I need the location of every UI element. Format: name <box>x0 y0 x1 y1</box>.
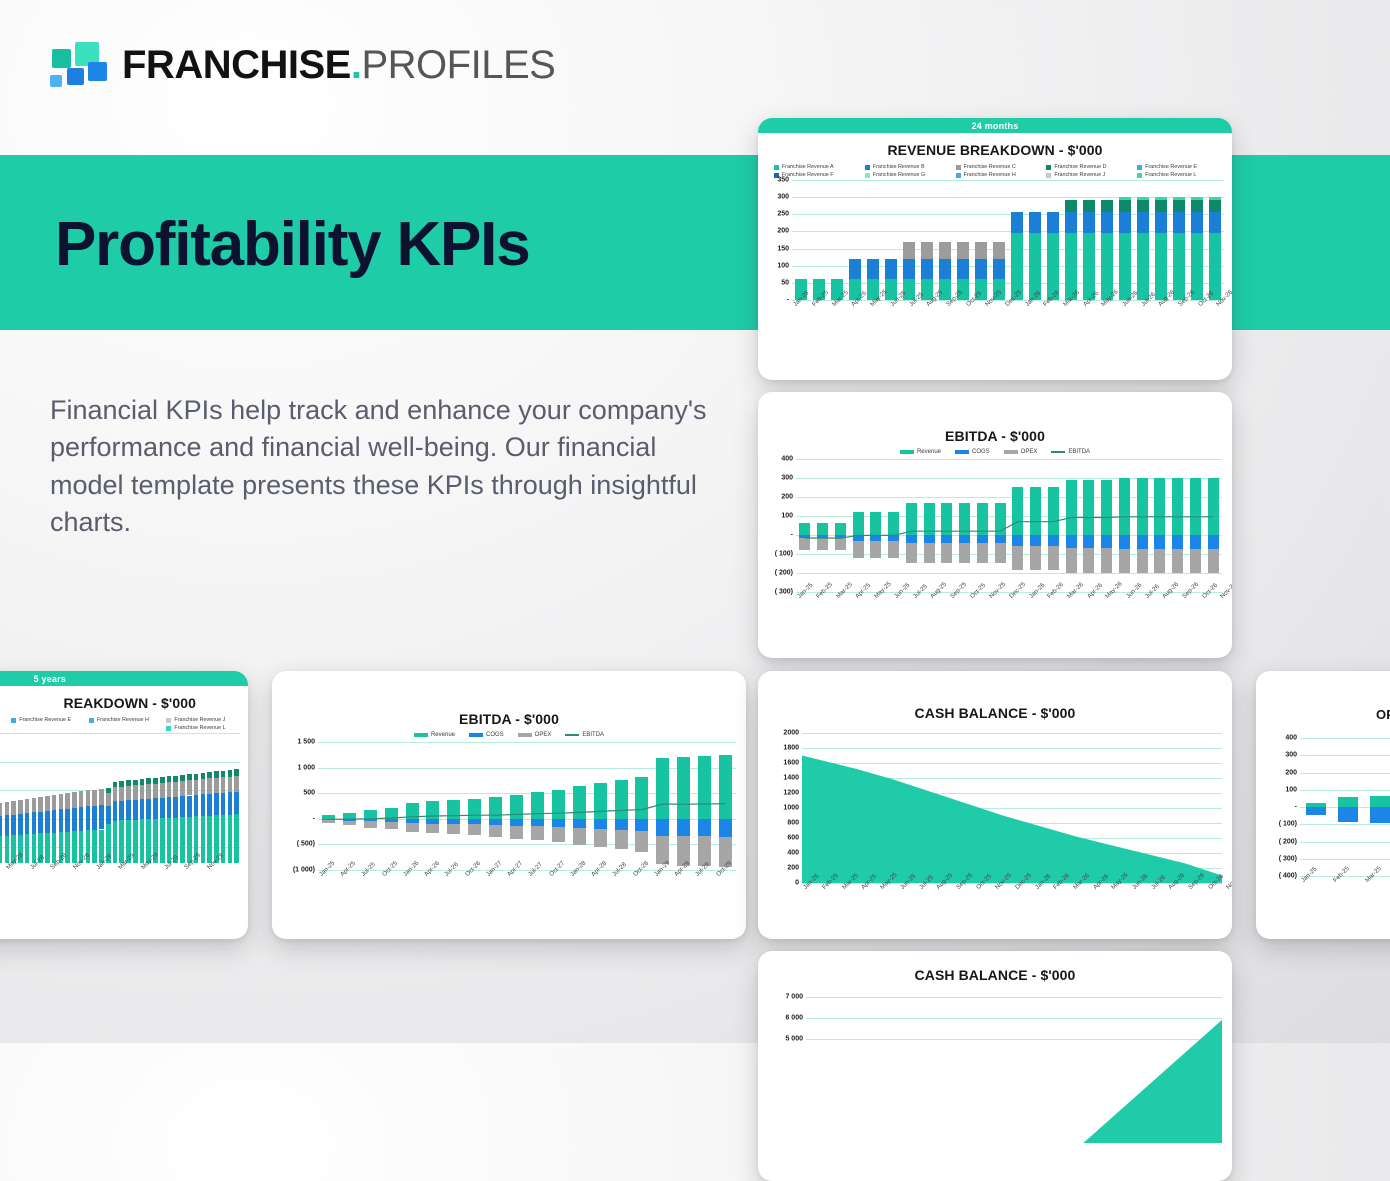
bar-segment <box>1065 212 1076 233</box>
brand-name-dot: . <box>351 43 362 87</box>
bar-segment <box>106 793 111 806</box>
legend-item: Franchise Revenue A <box>768 164 859 170</box>
bar-segment <box>126 780 131 786</box>
legend-swatch-icon <box>774 165 779 170</box>
chart-y-axis: 2000180016001400120010008006004002000 <box>762 733 802 883</box>
bar-segment <box>1155 200 1166 211</box>
bar-segment <box>1029 212 1040 233</box>
legend-item: Franchise Revenue E <box>1131 164 1222 170</box>
bar-segment <box>119 781 124 787</box>
bar-segment <box>1338 807 1358 822</box>
legend-swatch-icon <box>900 450 914 454</box>
bar-segment <box>228 792 233 814</box>
bar-segment <box>79 807 84 831</box>
bar-segment <box>25 834 30 863</box>
bar-segment <box>146 799 151 819</box>
bar-segment <box>92 830 97 863</box>
bar-segment <box>993 259 1004 279</box>
bar-segment <box>113 782 118 788</box>
bar-segment <box>957 259 968 279</box>
chart-y-axis: 7 0006 0005 000 <box>762 997 806 1143</box>
legend-item: Revenue <box>414 732 455 738</box>
bar-segment <box>194 795 199 816</box>
bar-segment <box>25 813 30 834</box>
ebitda-line <box>318 742 736 870</box>
legend-swatch-icon <box>166 718 171 723</box>
bar-segment <box>160 818 165 863</box>
bar-segment <box>99 805 104 830</box>
legend-swatch-icon <box>565 734 579 736</box>
period-tag-24-months: 24 months <box>758 118 1232 133</box>
bar-segment <box>59 809 64 832</box>
legend-label: EBITDA <box>1068 449 1090 455</box>
bar-segment <box>106 788 111 793</box>
bar-segment <box>0 836 2 863</box>
y-tick-label: 1600 <box>783 760 799 767</box>
bar-segment <box>140 785 145 799</box>
bar-segment <box>45 811 50 833</box>
bar-segment <box>59 794 64 809</box>
bar-segment <box>160 798 165 819</box>
page-title: Profitability KPIs <box>55 214 530 276</box>
legend-swatch-icon <box>469 733 483 737</box>
bar-segment <box>146 778 151 784</box>
y-tick-label: 200 <box>781 494 793 501</box>
y-tick-label: ( 500) <box>297 841 315 848</box>
bar-segment <box>113 801 118 821</box>
legend-label: Revenue <box>917 449 941 455</box>
bar-segment <box>1191 212 1202 233</box>
bar-segment <box>140 819 145 863</box>
bar-segment <box>1155 212 1166 233</box>
y-tick-label: 1000 <box>783 805 799 812</box>
legend-item: OPEX <box>518 732 552 738</box>
legend-label: Franchise Revenue D <box>1054 164 1106 170</box>
legend-label: Franchise Revenue H <box>964 172 1016 178</box>
bar-segment <box>99 789 104 805</box>
bar-segment <box>1191 200 1202 211</box>
legend-swatch-icon <box>1137 173 1142 178</box>
legend-swatch-icon <box>89 718 94 723</box>
bar-segment <box>867 259 878 279</box>
legend-swatch-icon <box>955 450 969 454</box>
chart-title-ebitda-5y: EBITDA - $'000 <box>272 711 746 727</box>
bar-segment <box>5 815 10 835</box>
bar-segment <box>228 815 233 863</box>
bar-segment <box>1137 197 1148 200</box>
bar-segment <box>221 771 226 777</box>
cash-area <box>806 997 1222 1143</box>
bar-segment <box>119 820 124 863</box>
bar-segment <box>1370 796 1390 807</box>
bar-segment <box>1101 200 1112 211</box>
legend-label: OPEX <box>535 732 552 738</box>
brand-wordmark: FRANCHISE.PROFILES <box>122 45 555 85</box>
bar-segment <box>5 802 10 815</box>
bar-segment <box>173 782 178 797</box>
bar-segment <box>1370 807 1390 823</box>
y-tick-label: 300 <box>1285 752 1297 759</box>
bar-segment <box>167 776 172 782</box>
y-tick-label: 100 <box>1285 786 1297 793</box>
bar-segment <box>52 795 57 810</box>
legend-swatch-icon <box>956 173 961 178</box>
legend-swatch-icon <box>414 733 428 737</box>
cash-area <box>802 733 1222 883</box>
bar-segment <box>1306 807 1326 815</box>
bar-segment <box>1137 233 1148 300</box>
bar-segment <box>214 778 219 794</box>
legend-label: Franchise Revenue J <box>174 717 225 723</box>
bar-segment <box>86 806 91 830</box>
y-tick-label: 5 000 <box>785 1035 803 1042</box>
bar-segment <box>160 777 165 783</box>
bar-segment <box>11 815 16 835</box>
card-revenue-breakdown-24m[interactable]: 24 months REVENUE BREAKDOWN - $'000 Fran… <box>758 118 1232 380</box>
legend-item: Franchise Revenue G <box>859 172 950 178</box>
bar-segment <box>1083 212 1094 233</box>
bar-segment <box>187 817 192 863</box>
bar-segment <box>45 796 50 811</box>
legend-label: COGS <box>972 449 990 455</box>
chart-x-axis: Jan-25Feb-25Mar-25Apr-25May-25Jun-25Jul-… <box>1300 879 1390 886</box>
bar-segment <box>957 242 968 259</box>
y-tick-label: ( 100) <box>775 551 793 558</box>
card-ebitda-5y[interactable]: EBITDA - $'000 RevenueCOGSOPEXEBITDA 1 5… <box>272 671 746 939</box>
slide-root: FRANCHISE.PROFILES Profitability KPIs Fi… <box>0 0 1390 1043</box>
bar-segment <box>975 259 986 279</box>
bar-segment <box>79 791 84 807</box>
bar-segment <box>167 818 172 863</box>
y-tick-label: 1 000 <box>297 764 315 771</box>
bar-segment <box>207 794 212 816</box>
bar-segment <box>921 259 932 279</box>
bar-segment <box>52 810 57 832</box>
bar-segment <box>65 809 70 832</box>
legend-swatch-icon <box>1004 450 1018 454</box>
legend-label: Franchise Revenue J <box>1054 172 1105 178</box>
bar-segment <box>133 800 138 820</box>
legend-label: Franchise Revenue F <box>782 172 834 178</box>
bar-segment <box>207 778 212 793</box>
legend-swatch-icon <box>1046 165 1051 170</box>
legend-swatch-icon <box>1046 173 1051 178</box>
bar-segment <box>221 793 226 815</box>
bar-segment <box>1137 200 1148 211</box>
chart-bars <box>0 733 240 863</box>
bar-segment <box>903 259 914 279</box>
brand-name-light: PROFILES <box>361 43 555 87</box>
bar-segment <box>146 784 151 798</box>
bar-segment <box>126 800 131 820</box>
chart-x-axis: Jan-25Feb-25Mar-25Apr-25May-25Jun-25Jul-… <box>802 886 1222 893</box>
bar-segment <box>187 796 192 817</box>
bar-segment <box>1101 233 1112 300</box>
bar-segment <box>1119 233 1130 300</box>
legend-label: Revenue <box>431 732 455 738</box>
chart-y-axis: 1 5001 000500-( 500)(1 000) <box>276 742 318 870</box>
bar-segment <box>160 783 165 798</box>
bar-segment <box>885 259 896 279</box>
bar-segment <box>1137 212 1148 233</box>
bar-segment <box>180 796 185 817</box>
legend-item: COGS <box>955 449 990 455</box>
legend-item: Franchise Revenue C <box>950 164 1041 170</box>
y-tick-label: 200 <box>787 865 799 872</box>
bar-segment <box>106 806 111 824</box>
bar-segment <box>1119 200 1130 211</box>
chart-legend-ebitda-5y: RevenueCOGSOPEXEBITDA <box>272 732 746 738</box>
chart-x-axis: Jan-25Feb-25Mar-25Apr-25May-25Jun-25Jul-… <box>796 595 1222 602</box>
chart-title-cash-24m: CASH BALANCE - $'000 <box>758 705 1232 721</box>
bar-segment <box>119 801 124 821</box>
bar-segment <box>92 806 97 830</box>
chart-x-axis: Jan-25Apr-25Jul-25Oct-25Jan-26Apr-26Jul-… <box>318 873 736 880</box>
bar-segment <box>1209 197 1220 200</box>
bar-segment <box>180 817 185 863</box>
bar-segment <box>1101 212 1112 233</box>
bar-segment <box>113 787 118 801</box>
legend-item: Franchise Revenue J <box>160 717 238 723</box>
bar-segment <box>194 774 199 780</box>
chart-legend-revenue-24m: Franchise Revenue AFranchise Revenue BFr… <box>758 164 1232 178</box>
bar-segment <box>234 792 239 814</box>
legend-item: COGS <box>469 732 504 738</box>
legend-item: EBITDA <box>565 732 604 738</box>
legend-label: COGS <box>486 732 504 738</box>
bar-segment <box>1173 212 1184 233</box>
bar-segment <box>1083 200 1094 211</box>
chart-y-axis: 400300200100-( 100)( 200)( 300)( 400) <box>1260 738 1300 876</box>
brand-name-bold: FRANCHISE <box>122 43 351 87</box>
bar-segment <box>173 776 178 782</box>
legend-item: Franchise Revenue L <box>160 725 238 731</box>
chart-title-cash-5y: CASH BALANCE - $'000 <box>758 967 1232 983</box>
legend-label: Franchise Revenue B <box>873 164 925 170</box>
bar-segment <box>187 774 192 780</box>
y-tick-label: 1400 <box>783 775 799 782</box>
bar-segment <box>180 775 185 781</box>
y-tick-label: 300 <box>777 194 789 201</box>
y-tick-label: ( 300) <box>775 589 793 596</box>
legend-label: Franchise Revenue L <box>1145 172 1196 178</box>
bar-segment <box>126 786 131 800</box>
chart-plot-ebitda-24m: 400300200100-( 100)( 200)( 300)Jan-25Feb… <box>762 459 1222 634</box>
y-tick-label: 400 <box>1285 735 1297 742</box>
bar-segment <box>214 771 219 777</box>
y-tick-label: ( 200) <box>1279 838 1297 845</box>
bar-segment <box>5 836 10 863</box>
bar-segment <box>38 812 43 834</box>
y-tick-label: 100 <box>781 513 793 520</box>
bar-segment <box>1173 197 1184 200</box>
bar-segment <box>221 777 226 793</box>
logo-squares-icon <box>48 40 106 90</box>
bar-segment <box>187 780 192 795</box>
bar-segment <box>194 780 199 795</box>
y-tick-label: 1 500 <box>297 739 315 746</box>
card-ebitda-24m[interactable]: EBITDA - $'000 RevenueCOGSOPEXEBITDA 400… <box>758 392 1232 658</box>
legend-swatch-icon <box>518 733 532 737</box>
bar-segment <box>1029 233 1040 300</box>
y-tick-label: ( 300) <box>1279 855 1297 862</box>
chart-plot-opex: 400300200100-( 100)( 200)( 300)( 400)Jan… <box>1260 738 1390 916</box>
bar-segment <box>1173 200 1184 211</box>
bar-segment <box>993 242 1004 259</box>
y-tick-label: 100 <box>777 262 789 269</box>
bar-segment <box>1119 212 1130 233</box>
bar-segment <box>25 799 30 813</box>
legend-swatch-icon <box>166 726 171 731</box>
card-revenue-breakdown-5y[interactable]: 5 years REAKDOWN - $'000 Franchise Reven… <box>0 671 248 939</box>
bar-segment <box>939 242 950 259</box>
legend-label: Franchise Revenue A <box>782 164 834 170</box>
legend-item: Franchise Revenue D <box>1040 164 1131 170</box>
legend-item: EBITDA <box>1051 449 1090 455</box>
y-tick-label: 800 <box>787 820 799 827</box>
chart-legend-ebitda-24m: RevenueCOGSOPEXEBITDA <box>758 449 1232 455</box>
legend-label: OPEX <box>1021 449 1038 455</box>
y-tick-label: 6 000 <box>785 1014 803 1021</box>
y-tick-label: 1800 <box>783 745 799 752</box>
bar-segment <box>1209 212 1220 233</box>
bar-segment <box>1011 212 1022 233</box>
x-tick-label: Nov-26 <box>1225 872 1232 891</box>
bar-segment <box>201 773 206 779</box>
card-cash-balance-24m[interactable]: CASH BALANCE - $'000 2000180016001400120… <box>758 671 1232 939</box>
bar-segment <box>1155 197 1166 200</box>
bar-segment <box>1173 233 1184 300</box>
y-tick-label: 400 <box>787 850 799 857</box>
chart-title-opex: OPE <box>1256 707 1390 722</box>
y-tick-label: 150 <box>777 245 789 252</box>
y-tick-label: - <box>313 815 315 822</box>
y-tick-label: 2000 <box>783 730 799 737</box>
period-tag-5-years: 5 years <box>0 671 248 686</box>
bar-segment <box>228 777 233 793</box>
y-tick-label: 250 <box>777 211 789 218</box>
y-tick-label: 1200 <box>783 790 799 797</box>
y-tick-label: 500 <box>303 790 315 797</box>
y-tick-label: 7 000 <box>785 994 803 1001</box>
bar-segment <box>201 779 206 794</box>
y-tick-label: 300 <box>781 475 793 482</box>
bar-segment <box>849 259 860 279</box>
y-tick-label: 50 <box>781 279 789 286</box>
bar-segment <box>180 781 185 796</box>
y-tick-label: 400 <box>781 456 793 463</box>
legend-item: Franchise Revenue J <box>1040 172 1131 178</box>
bar-segment <box>167 797 172 818</box>
bar-segment <box>18 800 23 814</box>
bar-segment <box>234 769 239 776</box>
card-cash-balance-5y[interactable]: CASH BALANCE - $'000 7 0006 0005 000 <box>758 951 1232 1181</box>
chart-bars <box>1300 738 1390 876</box>
legend-item: Franchise Revenue E <box>5 717 83 723</box>
y-tick-label: 350 <box>777 177 789 184</box>
bar-segment <box>201 794 206 816</box>
bar-segment <box>234 776 239 792</box>
y-tick-label: ( 200) <box>775 570 793 577</box>
legend-item: Franchise Revenue L <box>1131 172 1222 178</box>
y-tick-label: 600 <box>787 835 799 842</box>
chart-plot-cash-24m: 2000180016001400120010008006004002000Jan… <box>762 733 1222 923</box>
bar-segment <box>119 787 124 801</box>
bar-segment <box>92 790 97 806</box>
legend-item: Revenue <box>900 449 941 455</box>
y-tick-label: - <box>791 532 793 539</box>
bar-segment <box>72 808 77 831</box>
bar-segment <box>1191 197 1202 200</box>
bar-segment <box>234 814 239 863</box>
bar-segment <box>1209 200 1220 211</box>
bar-segment <box>133 780 138 786</box>
y-tick-label: ( 400) <box>1279 873 1297 880</box>
chart-plot-revenue-24m: 35030025020015010050-Jan-25Feb-25Mar-25A… <box>762 180 1224 340</box>
bar-segment <box>11 801 16 815</box>
chart-legend-revenue-5y: Franchise Revenue CFranchise Revenue DFr… <box>0 717 248 731</box>
legend-item: Franchise Revenue H <box>83 717 161 723</box>
chart-title-revenue-5y: REAKDOWN - $'000 <box>0 695 248 711</box>
chart-bars <box>792 180 1224 300</box>
bar-segment <box>38 797 43 811</box>
chart-title-ebitda-24m: EBITDA - $'000 <box>758 428 1232 444</box>
chart-plot-cash-5y: 7 0006 0005 000 <box>762 997 1222 1157</box>
bar-segment <box>18 814 23 835</box>
bar-segment <box>214 793 219 815</box>
legend-label: Franchise Revenue L <box>174 725 225 731</box>
y-tick-label: 0 <box>795 880 799 887</box>
card-opex[interactable]: OPE 400300200100-( 100)( 200)( 300)( 400… <box>1256 671 1390 939</box>
legend-item: Franchise Revenue H <box>950 172 1041 178</box>
y-tick-label: - <box>787 297 789 304</box>
bar-segment <box>903 242 914 259</box>
legend-swatch-icon <box>865 173 870 178</box>
y-tick-label: 200 <box>1285 769 1297 776</box>
chart-plot-ebitda-5y: 1 5001 000500-( 500)(1 000)Jan-25Apr-25J… <box>276 742 736 914</box>
y-tick-label: ( 100) <box>1279 821 1297 828</box>
bar-segment <box>1119 197 1130 200</box>
bar-segment <box>921 242 932 259</box>
legend-swatch-icon <box>1137 165 1142 170</box>
legend-item: Franchise Revenue B <box>859 164 950 170</box>
legend-label: Franchise Revenue E <box>1145 164 1197 170</box>
y-tick-label: - <box>1295 804 1297 811</box>
bar-segment <box>0 803 2 816</box>
chart-plot-revenue-5y: Mar-27May-27Jul-27Sep-27Nov-27Jan-28Mar-… <box>0 733 240 901</box>
bar-segment <box>153 784 158 799</box>
bar-segment <box>1047 212 1058 233</box>
y-tick-label: 200 <box>777 228 789 235</box>
bar-segment <box>207 816 212 863</box>
chart-title-revenue-24m: REVENUE BREAKDOWN - $'000 <box>758 142 1232 158</box>
legend-label: Franchise Revenue E <box>19 717 71 723</box>
legend-swatch-icon <box>1051 451 1065 453</box>
bar-segment <box>140 779 145 785</box>
bar-segment <box>32 812 37 833</box>
bar-segment <box>133 785 138 799</box>
bar-segment <box>86 790 91 806</box>
bar-segment <box>1338 797 1358 807</box>
intro-paragraph: Financial KPIs help track and enhance yo… <box>50 392 722 541</box>
bar-segment <box>153 778 158 784</box>
bar-segment <box>1083 233 1094 300</box>
bar-segment <box>167 782 172 797</box>
legend-label: Franchise Revenue C <box>964 164 1016 170</box>
bar-segment <box>939 259 950 279</box>
legend-swatch-icon <box>865 165 870 170</box>
bar-segment <box>0 816 2 836</box>
